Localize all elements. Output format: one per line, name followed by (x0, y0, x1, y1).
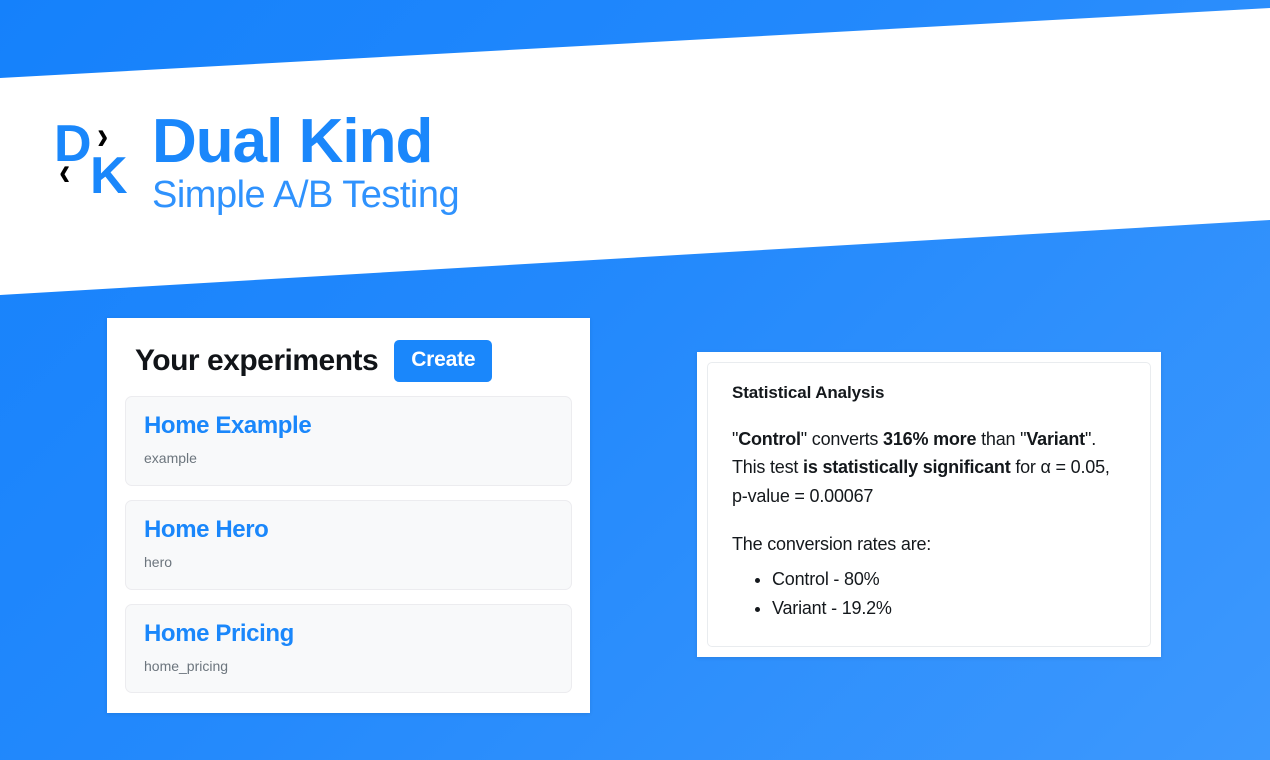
for-text: for (1011, 457, 1036, 477)
brand-text: Dual Kind Simple A/B Testing (152, 110, 459, 217)
brand-logo: D › ‹ K Dual Kind Simple A/B Testing (52, 110, 459, 217)
experiments-header: Your experiments Create (125, 336, 572, 396)
brand-tagline: Simple A/B Testing (152, 175, 459, 217)
analysis-summary: "Control" converts 316% more than "Varia… (732, 425, 1126, 510)
conversion-rates-list: Control - 80% Variant - 19.2% (732, 565, 1126, 623)
list-item[interactable]: Home Hero hero (125, 500, 572, 590)
variant-label: Variant (1026, 429, 1085, 449)
create-button[interactable]: Create (394, 340, 492, 382)
list-item: Variant - 19.2% (772, 594, 1126, 623)
conversion-rates-label: The conversion rates are: (732, 534, 1126, 555)
list-item: Control - 80% (772, 565, 1126, 594)
list-item[interactable]: Home Pricing home_pricing (125, 604, 572, 694)
converts-text: converts (807, 429, 883, 449)
chevron-left-icon: ‹ (59, 152, 70, 192)
brand-title: Dual Kind (152, 110, 459, 173)
experiments-panel: Your experiments Create Home Example exa… (107, 318, 590, 713)
this-test-text: This test (732, 457, 803, 477)
period: . (1091, 429, 1096, 449)
experiment-name[interactable]: Home Pricing (144, 621, 553, 647)
analysis-title: Statistical Analysis (732, 383, 1126, 403)
experiment-key: home_pricing (144, 659, 553, 674)
control-label: Control (738, 429, 801, 449)
statistical-analysis-card: Statistical Analysis "Control" converts … (707, 362, 1151, 647)
than-text: than (976, 429, 1020, 449)
list-item[interactable]: Home Example example (125, 396, 572, 486)
statistical-analysis-panel: Statistical Analysis "Control" converts … (697, 352, 1161, 657)
experiment-key: example (144, 451, 553, 466)
significance-text: is statistically significant (803, 457, 1010, 477)
experiment-list: Home Example example Home Hero hero Home… (125, 396, 572, 693)
logo-mark-icon: D › ‹ K (52, 110, 138, 210)
experiments-title: Your experiments (135, 344, 378, 378)
experiment-name[interactable]: Home Example (144, 413, 553, 439)
experiment-key: hero (144, 555, 553, 570)
logo-letter-k: K (90, 150, 128, 202)
experiment-name[interactable]: Home Hero (144, 517, 553, 543)
lift-value: 316% more (883, 429, 976, 449)
